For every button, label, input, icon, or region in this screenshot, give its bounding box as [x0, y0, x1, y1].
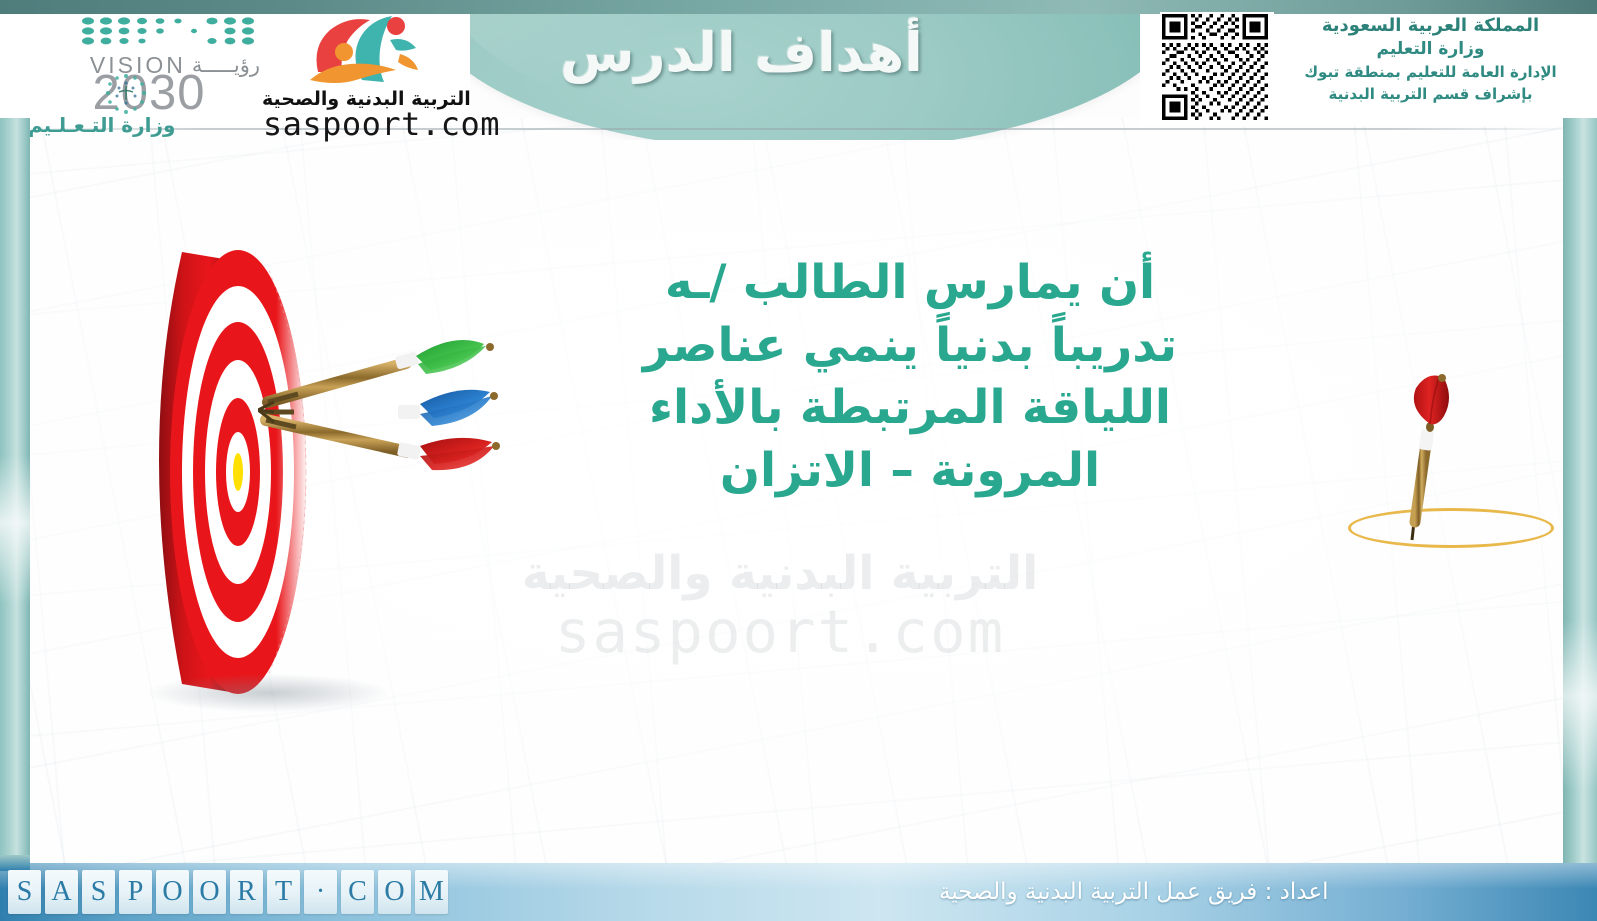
darts-illustration: [258, 340, 508, 530]
footer-tile: ·: [304, 870, 337, 914]
ministry-line-1: المملكة العربية السعودية: [1278, 14, 1583, 37]
saspoort-people-mark-icon: [304, 10, 422, 88]
objective-line-4: المرونة – الاتزان: [570, 440, 1250, 503]
vision-2030-logo: VISION رؤيـــــة 2030 وزارة التـعـلـيم: [28, 14, 260, 132]
ministry-header-text: المملكة العربية السعودية وزارة التعليم ا…: [1278, 14, 1583, 126]
three-darts: [258, 340, 508, 530]
page-title: أهداف الدرس: [560, 10, 1068, 95]
ministry-line-4: بإشراف قسم التربية البدنية: [1278, 84, 1583, 106]
footer-tile: R: [230, 870, 263, 914]
footer-tile: S: [8, 870, 41, 914]
footer-tile: P: [119, 870, 152, 914]
footer-tile: O: [378, 870, 411, 914]
objective-line-1: أن يمارس الطالب /ـه: [570, 252, 1250, 315]
vision-number: 2030: [38, 70, 260, 116]
top-edge-strip: [0, 0, 1597, 14]
saspoort-tiles: SASPOORT·COM: [8, 869, 448, 915]
dartboard-shadow: [148, 674, 388, 712]
brand-url-label: saspoort.com: [262, 106, 500, 142]
right-border-highlight: [1563, 620, 1597, 790]
footer-credit: اعداد : فريق عمل التربية البدنية والصحية: [939, 872, 1579, 912]
footer-tile: A: [45, 870, 78, 914]
vision-ministry-label: وزارة التـعـلـيم: [28, 112, 260, 138]
left-border-highlight: [0, 455, 30, 605]
lesson-objective-text: أن يمارس الطالب /ـه تدريباً بدنياً ينمي …: [570, 252, 1250, 502]
footer-tile: O: [156, 870, 189, 914]
footer-tile: T: [267, 870, 300, 914]
footer-tile: O: [193, 870, 226, 914]
slide-root: أهداف الدرس VISION رؤيــــ: [0, 0, 1597, 921]
footer-tile: S: [82, 870, 115, 914]
qr-code-icon: [1160, 12, 1274, 126]
ministry-line-2: وزارة التعليم: [1278, 37, 1583, 62]
saudi-emblem-icon: [104, 72, 148, 116]
standing-dart-illustration: [1388, 372, 1468, 542]
objective-line-3: اللياقة المرتبطة بالأداء: [570, 377, 1250, 440]
standing-dart: [1388, 372, 1468, 542]
footer-tile: C: [341, 870, 374, 914]
saspoort-brand: التربية البدنية والصحية saspoort.com: [262, 10, 500, 132]
vision-dots-pattern: [80, 16, 260, 50]
ministry-line-3: الإدارة العامة للتعليم بمنطقة تبوك: [1278, 62, 1583, 84]
footer-tile: M: [415, 870, 448, 914]
objective-line-2: تدريباً بدنياً ينمي عناصر: [570, 315, 1250, 378]
